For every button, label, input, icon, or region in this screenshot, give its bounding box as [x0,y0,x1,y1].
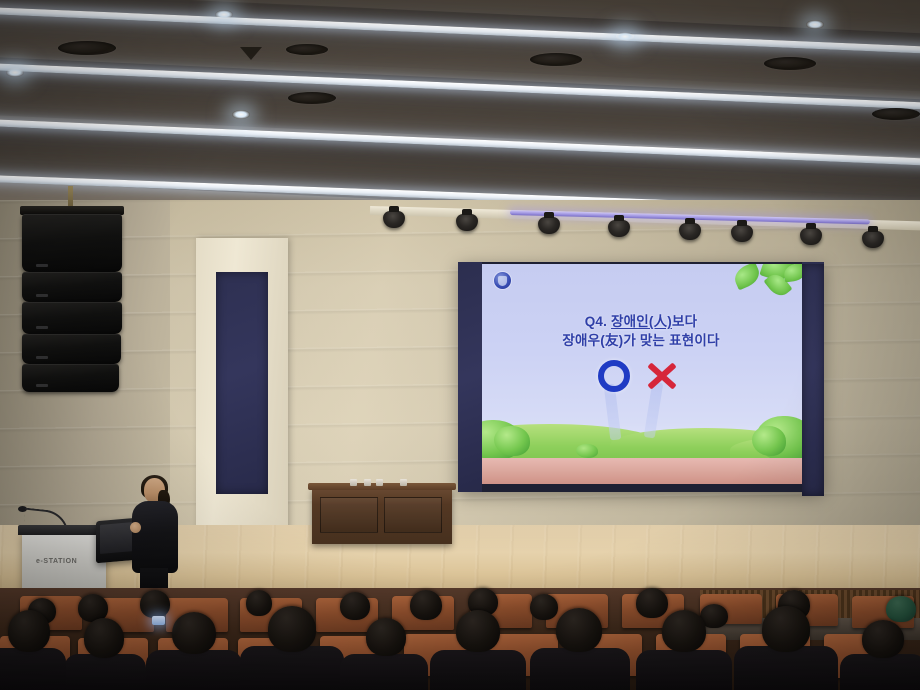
speaker-hanger [68,186,73,208]
navy-acoustic-panel-left [216,272,268,494]
audience-head [530,594,558,620]
ceiling-speaker-cone [240,47,262,60]
audience-head [410,590,442,620]
slide-q-number: Q4. [585,314,611,329]
audience-head [456,610,500,652]
slide-q-underlined: 장애인(人) [611,314,672,329]
audience-head [268,606,316,652]
x-paddle-icon [646,360,678,392]
audience-area [0,588,920,690]
navy-acoustic-panel-right [802,264,824,496]
audience-shoulders [734,646,838,690]
ceiling-vent [288,92,336,104]
audience-head [556,608,602,652]
navy-panel-screen-left [458,262,482,492]
university-emblem-icon [494,272,511,289]
slide-leaf-decoration [722,264,802,306]
cabinet-item [376,479,383,486]
cabinet-item [364,479,371,486]
speaker-box [22,214,122,272]
ceiling-vent [764,57,816,70]
ceiling-vent [530,53,582,66]
audience-shoulders [636,650,732,690]
audience-head [762,606,810,652]
audience-head [662,610,706,652]
audience-shoulders [0,648,66,690]
audience-shoulders [840,654,920,690]
audience-shoulders [430,650,526,690]
ceiling-spot-light [6,68,24,77]
audience-head [366,618,406,656]
presentation-slide: Q4. 장애인(人)보다 장애우(友)가 맞는 표현이다 [480,264,802,484]
audience-head [8,610,50,652]
cabinet-item [350,479,357,486]
audience-head [636,588,668,618]
audience-shoulders [146,650,242,690]
ceiling-vent [58,41,116,55]
audience-head [340,592,370,620]
audience-shoulders [240,646,344,690]
stage-cabinet [312,488,452,544]
audience-head [140,590,170,618]
ceiling-spot-light [215,10,233,19]
line-array-speaker-cluster [18,186,126,396]
speaker-box [22,302,122,334]
audience-shoulders [530,648,630,690]
slide-ground [480,458,802,484]
audience-head [246,590,272,616]
slide-q-suffix: 보다 [672,314,697,329]
ceiling-spot-light [616,32,634,41]
ceiling-vent [286,44,328,55]
speaker-box [22,364,119,392]
podium: e-STATION [22,532,106,594]
o-paddle-icon [598,360,630,392]
audience-green-cap [886,596,916,622]
presenter-torso [132,501,178,573]
slide-answer-paddles [480,360,802,450]
ceiling [0,0,920,212]
presenter [128,478,184,596]
presenter-hand [130,522,141,533]
auditorium-photo-scene: Q4. 장애인(人)보다 장애우(友)가 맞는 표현이다 [0,0,920,690]
ceiling-vent [872,108,920,120]
podium-brand-label: e-STATION [36,558,77,565]
slide-q-line2: 장애우(友)가 맞는 표현이다 [480,331,802,350]
speaker-box [22,272,122,302]
speaker-box [22,334,121,364]
audience-head [172,612,216,654]
audience-shoulders [340,654,428,690]
projection-screen: Q4. 장애인(人)보다 장애우(友)가 맞는 표현이다 [458,262,824,492]
audience-head [84,618,124,658]
audience-phone-screen [152,616,165,625]
cabinet-item [400,479,407,486]
ceiling-spot-light [232,110,250,119]
audience-shoulders [64,654,146,690]
ceiling-spot-light [806,20,824,29]
audience-head [862,620,904,658]
slide-question-text: Q4. 장애인(人)보다 장애우(友)가 맞는 표현이다 [480,312,802,350]
